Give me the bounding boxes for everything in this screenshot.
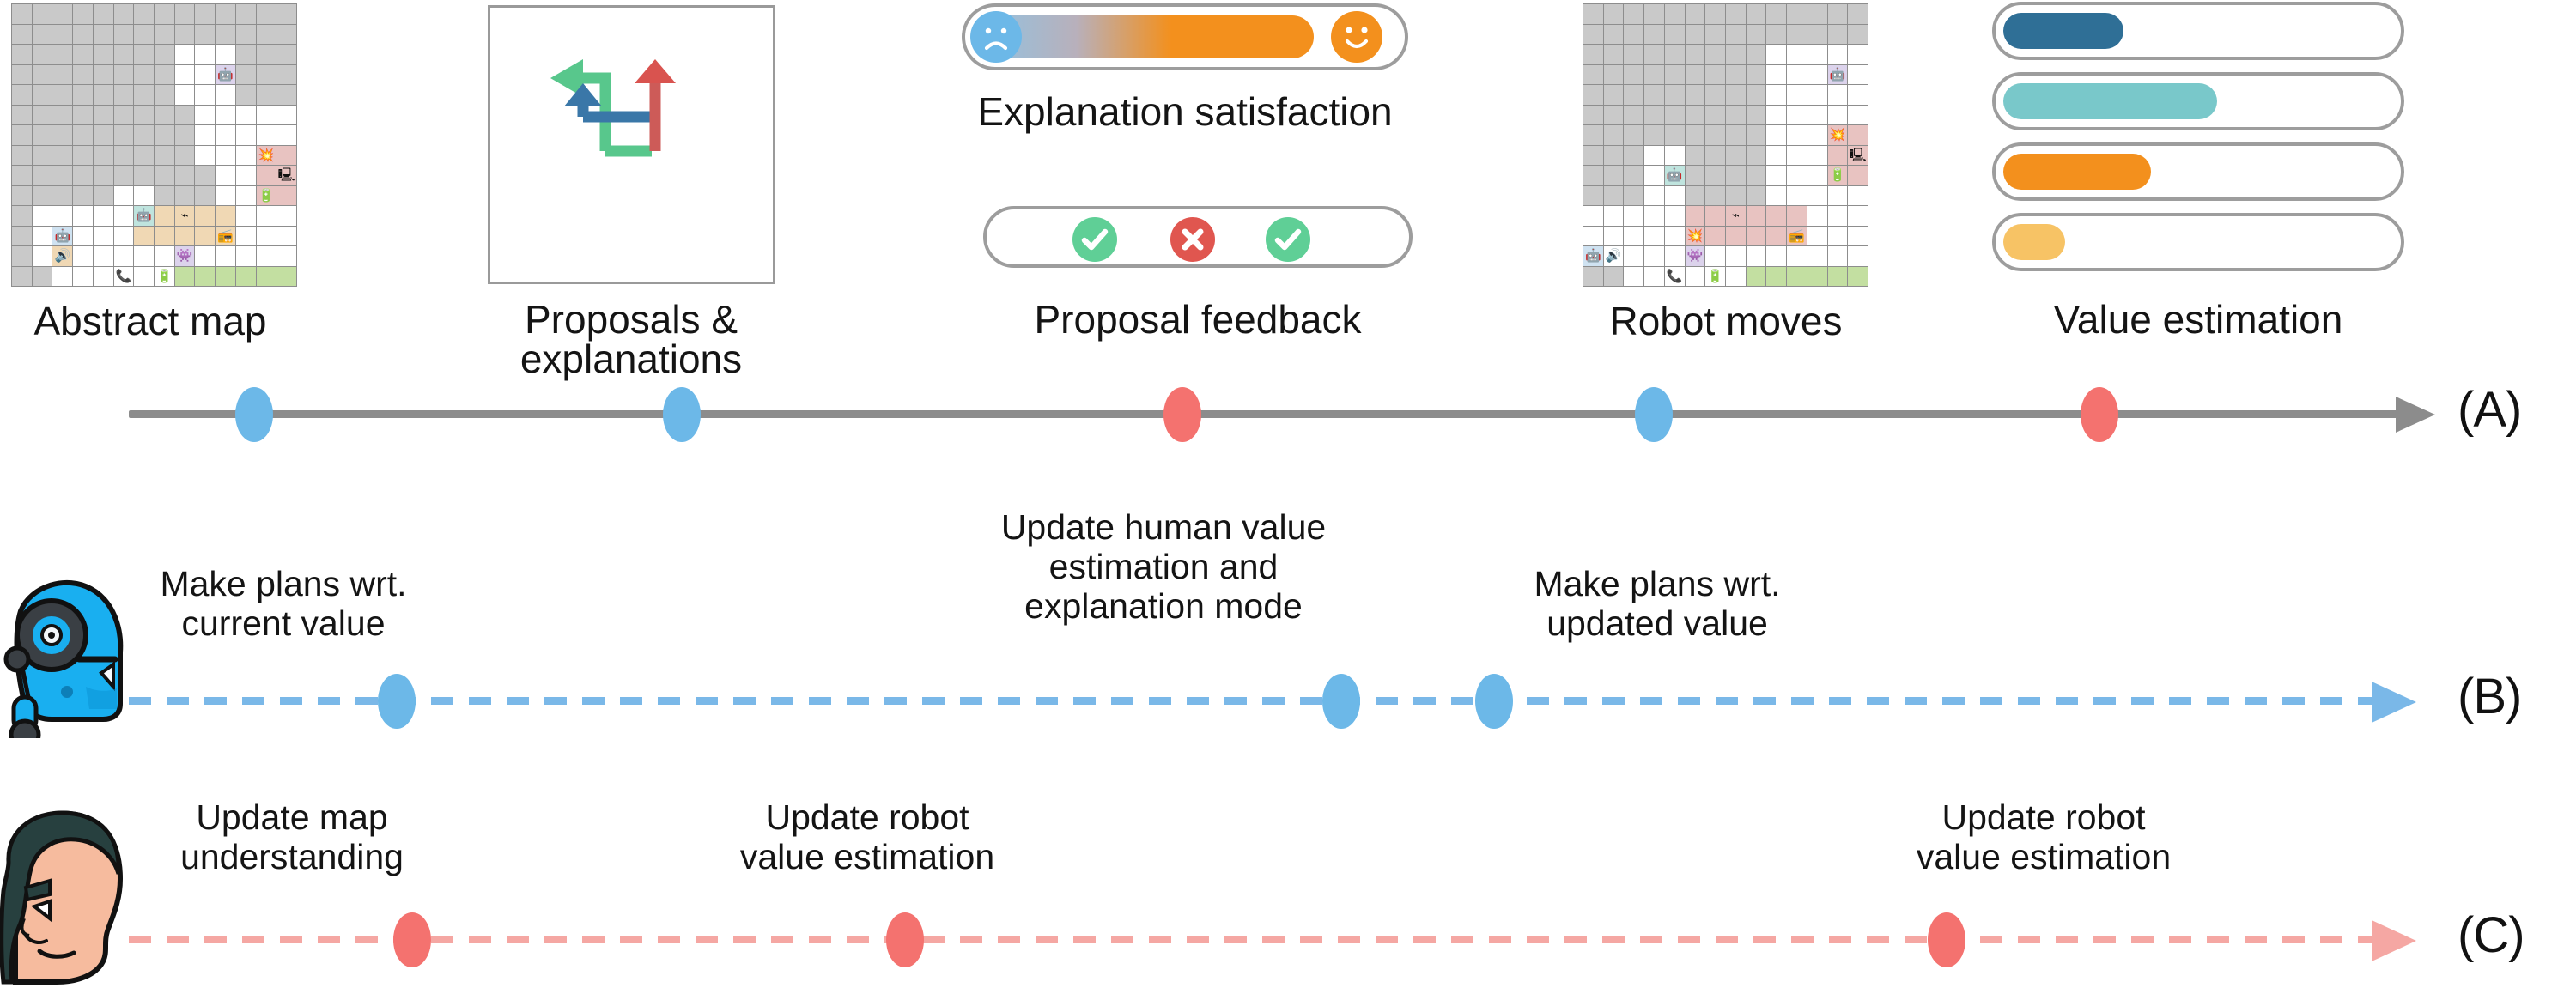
map-cell [1644, 186, 1665, 207]
proposal-feedback-group[interactable] [983, 206, 1413, 268]
map-cell [276, 85, 297, 106]
map-cell [1766, 125, 1787, 146]
timeline-a-label: (A) [2458, 381, 2521, 439]
dot-update-human-value[interactable] [1322, 674, 1360, 729]
note-line: updated value [1460, 604, 1855, 644]
switch-icon: ⌁ [181, 209, 189, 222]
map-cell [1583, 206, 1604, 227]
map-cell [94, 45, 114, 65]
map-cell [1644, 146, 1665, 167]
map-cell [257, 227, 277, 247]
map-cell [1787, 267, 1807, 288]
map-cell [73, 146, 94, 167]
map-cell [1828, 146, 1849, 167]
map-cell [1644, 85, 1665, 106]
map-cell [94, 125, 114, 146]
map-cell [1665, 146, 1686, 167]
map-cell [134, 45, 155, 65]
map-cell [114, 4, 135, 25]
map-cell [1705, 146, 1726, 167]
map-cell [195, 85, 216, 106]
dot-proposals[interactable] [663, 387, 701, 442]
map-cell: 🤖 [1828, 65, 1849, 86]
map-cell [1747, 65, 1767, 86]
map-cell [1665, 65, 1686, 86]
note-make-plans-current: Make plans wrt. current value [86, 565, 481, 644]
dot-make-plans-updated[interactable] [1475, 674, 1513, 729]
map-cell [1828, 267, 1849, 288]
timeline-a-arrowhead [2396, 397, 2435, 433]
map-cell [1665, 45, 1686, 65]
map-cell [94, 65, 114, 86]
map-cell [1807, 85, 1828, 106]
map-cell [52, 45, 73, 65]
map-cell [195, 186, 216, 207]
map-cell: 🤖 [1665, 166, 1686, 186]
map-cell [1766, 186, 1787, 207]
map-cell [276, 25, 297, 45]
map-cell [1807, 227, 1828, 247]
map-cell [12, 206, 33, 227]
map-cell [257, 267, 277, 288]
map-cell [1705, 125, 1726, 146]
map-cell [1624, 227, 1644, 247]
map-cell [1787, 146, 1807, 167]
map-cell [1705, 4, 1726, 25]
map-cell [1807, 65, 1828, 86]
value-bar-track[interactable] [1992, 213, 2404, 271]
map-cell [52, 267, 73, 288]
map-cell [12, 4, 33, 25]
map-cell [33, 166, 53, 186]
map-cell [236, 146, 257, 167]
map-cell [1604, 267, 1625, 288]
map-cell [195, 146, 216, 167]
abstract-map-caption: Abstract map [0, 300, 301, 342]
map-cell [33, 227, 53, 247]
map-cell [1747, 45, 1767, 65]
map-cell [1705, 246, 1726, 267]
map-cell [73, 246, 94, 267]
satisfaction-fill [975, 15, 1314, 58]
map-cell [12, 45, 33, 65]
map-cell [155, 146, 175, 167]
map-cell [175, 106, 196, 126]
check-circle-icon-2[interactable] [1266, 217, 1310, 262]
map-cell [175, 125, 196, 146]
map-cell [1787, 85, 1807, 106]
map-cell [12, 125, 33, 146]
phone-icon: 📞 [116, 270, 132, 282]
map-cell [155, 125, 175, 146]
map-cell [195, 4, 216, 25]
map-cell [33, 45, 53, 65]
map-cell [94, 85, 114, 106]
map-cell [1747, 4, 1767, 25]
map-cell [1766, 146, 1787, 167]
map-cell [1665, 125, 1686, 146]
map-cell [1828, 45, 1849, 65]
map-cell [52, 85, 73, 106]
map-cell [52, 106, 73, 126]
explosion-icon: 💥 [1830, 129, 1846, 142]
map-cell [1624, 206, 1644, 227]
map-cell [1726, 146, 1747, 167]
map-cell [216, 25, 236, 45]
map-cell [236, 65, 257, 86]
map-cell [1766, 206, 1787, 227]
map-cell [1665, 25, 1686, 45]
map-cell [12, 246, 33, 267]
map-cell: 💥 [1828, 125, 1849, 146]
map-cell [1644, 65, 1665, 86]
map-cell [94, 166, 114, 186]
map-cell [1665, 106, 1686, 126]
map-cell [1686, 85, 1706, 106]
map-cell [1583, 45, 1604, 65]
map-cell: 🖳 [276, 166, 297, 186]
map-cell [33, 246, 53, 267]
value-bar-track[interactable] [1992, 142, 2404, 201]
map-cell [134, 186, 155, 207]
map-cell [1747, 125, 1767, 146]
map-cell [175, 186, 196, 207]
note-line: value estimation [1855, 838, 2233, 877]
map-cell [276, 246, 297, 267]
map-cell [1807, 267, 1828, 288]
dot-update-map-understanding[interactable] [393, 912, 431, 967]
map-cell [134, 267, 155, 288]
map-cell [1787, 166, 1807, 186]
timeline-a-axis [129, 410, 2404, 418]
dot-value-estimation[interactable] [2081, 387, 2118, 442]
map-cell [114, 166, 135, 186]
map-cell [1604, 85, 1625, 106]
map-cell [1848, 45, 1868, 65]
map-cell [114, 206, 135, 227]
map-cell [1705, 166, 1726, 186]
map-cell [257, 4, 277, 25]
map-cell [114, 45, 135, 65]
battery-icon: 🔋 [258, 189, 275, 202]
map-cell [1807, 186, 1828, 207]
map-cell [175, 227, 196, 247]
map-cell [1848, 106, 1868, 126]
map-cell: 📞 [1665, 267, 1686, 288]
map-cell [12, 146, 33, 167]
map-cell: 🔊 [52, 246, 73, 267]
map-cell [236, 227, 257, 247]
map-cell [155, 45, 175, 65]
map-cell [1644, 246, 1665, 267]
map-cell [73, 65, 94, 86]
map-cell [1604, 106, 1625, 126]
map-cell [276, 186, 297, 207]
map-cell [73, 106, 94, 126]
map-cell [94, 227, 114, 247]
map-cell [1747, 85, 1767, 106]
map-cell [1807, 246, 1828, 267]
map-cell [1848, 206, 1868, 227]
map-cell: 🔋 [1828, 166, 1849, 186]
map-cell [1747, 186, 1767, 207]
map-cell [134, 246, 155, 267]
map-cell [33, 267, 53, 288]
value-estimation-caption: Value estimation [1966, 299, 2430, 341]
map-cell [1604, 166, 1625, 186]
dot-update-robot-value-1[interactable] [886, 912, 924, 967]
map-cell [134, 65, 155, 86]
map-cell [1848, 125, 1868, 146]
map-cell [1787, 125, 1807, 146]
map-cell [1644, 125, 1665, 146]
map-cell [1828, 227, 1849, 247]
map-cell [175, 45, 196, 65]
map-cell [1807, 125, 1828, 146]
map-cell [257, 125, 277, 146]
map-cell [276, 106, 297, 126]
map-cell [155, 65, 175, 86]
map-cell [1644, 267, 1665, 288]
map-cell [1624, 4, 1644, 25]
explanation-satisfaction-caption: Explanation satisfaction [910, 91, 1460, 133]
map-cell [1787, 4, 1807, 25]
map-cell [1686, 45, 1706, 65]
map-cell [1624, 106, 1644, 126]
map-cell [257, 246, 277, 267]
map-cell [114, 85, 135, 106]
map-cell [216, 146, 236, 167]
phone-icon: 📞 [1667, 270, 1683, 282]
happy-face-icon [1331, 11, 1382, 63]
map-cell [1644, 4, 1665, 25]
bar-2-fill [2003, 83, 2217, 119]
map-cell [175, 166, 196, 186]
map-cell: 🤖 [52, 227, 73, 247]
note-make-plans-updated: Make plans wrt. updated value [1460, 565, 1855, 644]
map-cell [1624, 65, 1644, 86]
map-cell [33, 85, 53, 106]
map-cell [94, 186, 114, 207]
map-cell [155, 25, 175, 45]
note-line: Update robot [1855, 798, 2233, 838]
map-cell [195, 267, 216, 288]
map-cell [155, 166, 175, 186]
timeline-b-arrowhead [2372, 682, 2416, 723]
map-cell [52, 25, 73, 45]
map-cell [1726, 166, 1747, 186]
map-cell [1747, 227, 1767, 247]
map-cell [195, 227, 216, 247]
bar-1-fill [2003, 13, 2123, 49]
map-cell [1766, 227, 1787, 247]
robot-icon: 🤖 [136, 209, 152, 222]
map-cell [175, 267, 196, 288]
map-cell [155, 85, 175, 106]
map-cell [1747, 246, 1767, 267]
check-circle-icon-1[interactable] [1072, 217, 1117, 262]
map-cell [1644, 25, 1665, 45]
value-bar-track[interactable] [1992, 2, 2404, 60]
map-cell [1583, 186, 1604, 207]
map-cell [276, 65, 297, 86]
signal-icon: 🔊 [54, 250, 70, 263]
map-cell [73, 186, 94, 207]
map-cell [1705, 65, 1726, 86]
map-cell [114, 25, 135, 45]
map-cell [175, 65, 196, 86]
note-line: Update map [103, 798, 481, 838]
map-cell [236, 267, 257, 288]
map-cell [134, 166, 155, 186]
map-cell [33, 65, 53, 86]
map-cell: 🔋 [155, 267, 175, 288]
map-cell [114, 125, 135, 146]
note-line: estimation and [914, 548, 1413, 587]
radio-icon: 📻 [1789, 229, 1805, 242]
map-cell [73, 45, 94, 65]
map-cell [1583, 267, 1604, 288]
map-cell [1828, 106, 1849, 126]
map-cell: 🔋 [1705, 267, 1726, 288]
note-update-map-understanding: Update map understanding [103, 798, 481, 877]
map-cell [1583, 65, 1604, 86]
map-cell [1604, 25, 1625, 45]
dot-make-plans-current[interactable] [378, 674, 416, 729]
map-cell: 💥 [257, 146, 277, 167]
map-cell [175, 25, 196, 45]
map-cell: 🔊 [1604, 246, 1625, 267]
map-cell [1624, 186, 1644, 207]
signal-icon: 🔊 [1606, 250, 1622, 263]
map-cell [33, 186, 53, 207]
map-cell [257, 85, 277, 106]
map-cell [1583, 227, 1604, 247]
map-cell [1747, 166, 1767, 186]
map-cell [1624, 146, 1644, 167]
map-cell [1807, 166, 1828, 186]
map-cell [1807, 106, 1828, 126]
map-cell [1705, 25, 1726, 45]
proposal-arrows [490, 8, 778, 287]
map-cell [236, 4, 257, 25]
note-line: current value [86, 604, 481, 644]
x-circle-icon[interactable] [1170, 217, 1215, 262]
explanation-satisfaction-slider[interactable] [962, 3, 1408, 70]
map-cell: 🤖 [1583, 246, 1604, 267]
map-cell [1705, 227, 1726, 247]
map-cell [276, 146, 297, 167]
map-cell [1686, 267, 1706, 288]
dot-explanation-satisfaction[interactable] [1163, 387, 1201, 442]
map-cell [114, 246, 135, 267]
dot-abstract-map[interactable] [235, 387, 273, 442]
map-cell [1644, 227, 1665, 247]
map-cell [1787, 246, 1807, 267]
map-cell [1828, 25, 1849, 45]
note-line: Make plans wrt. [86, 565, 481, 604]
map-cell [1665, 186, 1686, 207]
timeline-c-label: (C) [2458, 906, 2524, 964]
map-cell [1583, 85, 1604, 106]
map-cell [94, 246, 114, 267]
map-cell [257, 166, 277, 186]
map-cell [155, 227, 175, 247]
map-cell: 👾 [1686, 246, 1706, 267]
map-cell [236, 246, 257, 267]
map-cell [1848, 227, 1868, 247]
map-cell [94, 267, 114, 288]
map-cell [276, 4, 297, 25]
map-cell [276, 125, 297, 146]
abstract-map-grid: 🤖💥🖳🔋🤖⌁🤖📻🔊👾📞🔋 [11, 3, 297, 287]
map-cell [1787, 106, 1807, 126]
value-bar-track[interactable] [1992, 72, 2404, 130]
dot-robot-moves[interactable] [1635, 387, 1673, 442]
map-cell [1686, 65, 1706, 86]
map-cell [236, 186, 257, 207]
map-cell [1766, 246, 1787, 267]
map-cell [276, 45, 297, 65]
map-cell [155, 206, 175, 227]
map-cell [33, 25, 53, 45]
map-cell [175, 146, 196, 167]
map-cell [175, 85, 196, 106]
map-cell: 📻 [216, 227, 236, 247]
map-cell [1726, 246, 1747, 267]
map-cell [1766, 267, 1787, 288]
note-line: value estimation [678, 838, 1056, 877]
map-cell [1604, 186, 1625, 207]
map-cell [195, 246, 216, 267]
map-cell [1848, 4, 1868, 25]
map-cell [216, 206, 236, 227]
map-cell [1787, 186, 1807, 207]
map-cell [175, 4, 196, 25]
map-cell [73, 25, 94, 45]
map-cell [1848, 186, 1868, 207]
map-cell [73, 166, 94, 186]
map-cell [236, 206, 257, 227]
map-cell [1726, 106, 1747, 126]
map-cell [1787, 25, 1807, 45]
robot-icon: 🤖 [217, 68, 234, 81]
map-cell [1686, 186, 1706, 207]
map-cell [134, 25, 155, 45]
map-cell: ⌁ [1726, 206, 1747, 227]
map-cell [1644, 166, 1665, 186]
map-cell [1624, 85, 1644, 106]
chip-icon: 🖳 [1850, 148, 1867, 161]
dot-update-robot-value-2[interactable] [1928, 912, 1965, 967]
map-cell [1624, 45, 1644, 65]
map-cell [52, 166, 73, 186]
map-cell [236, 45, 257, 65]
map-cell [1726, 125, 1747, 146]
map-cell [52, 146, 73, 167]
map-cell [1705, 186, 1726, 207]
map-cell [1787, 45, 1807, 65]
map-cell [216, 125, 236, 146]
map-cell [33, 125, 53, 146]
map-cell [1604, 206, 1625, 227]
timeline-c-arrowhead [2372, 920, 2416, 961]
map-cell [216, 267, 236, 288]
map-cell [1766, 25, 1787, 45]
map-cell [257, 65, 277, 86]
map-cell [257, 106, 277, 126]
note-line: Make plans wrt. [1460, 565, 1855, 604]
